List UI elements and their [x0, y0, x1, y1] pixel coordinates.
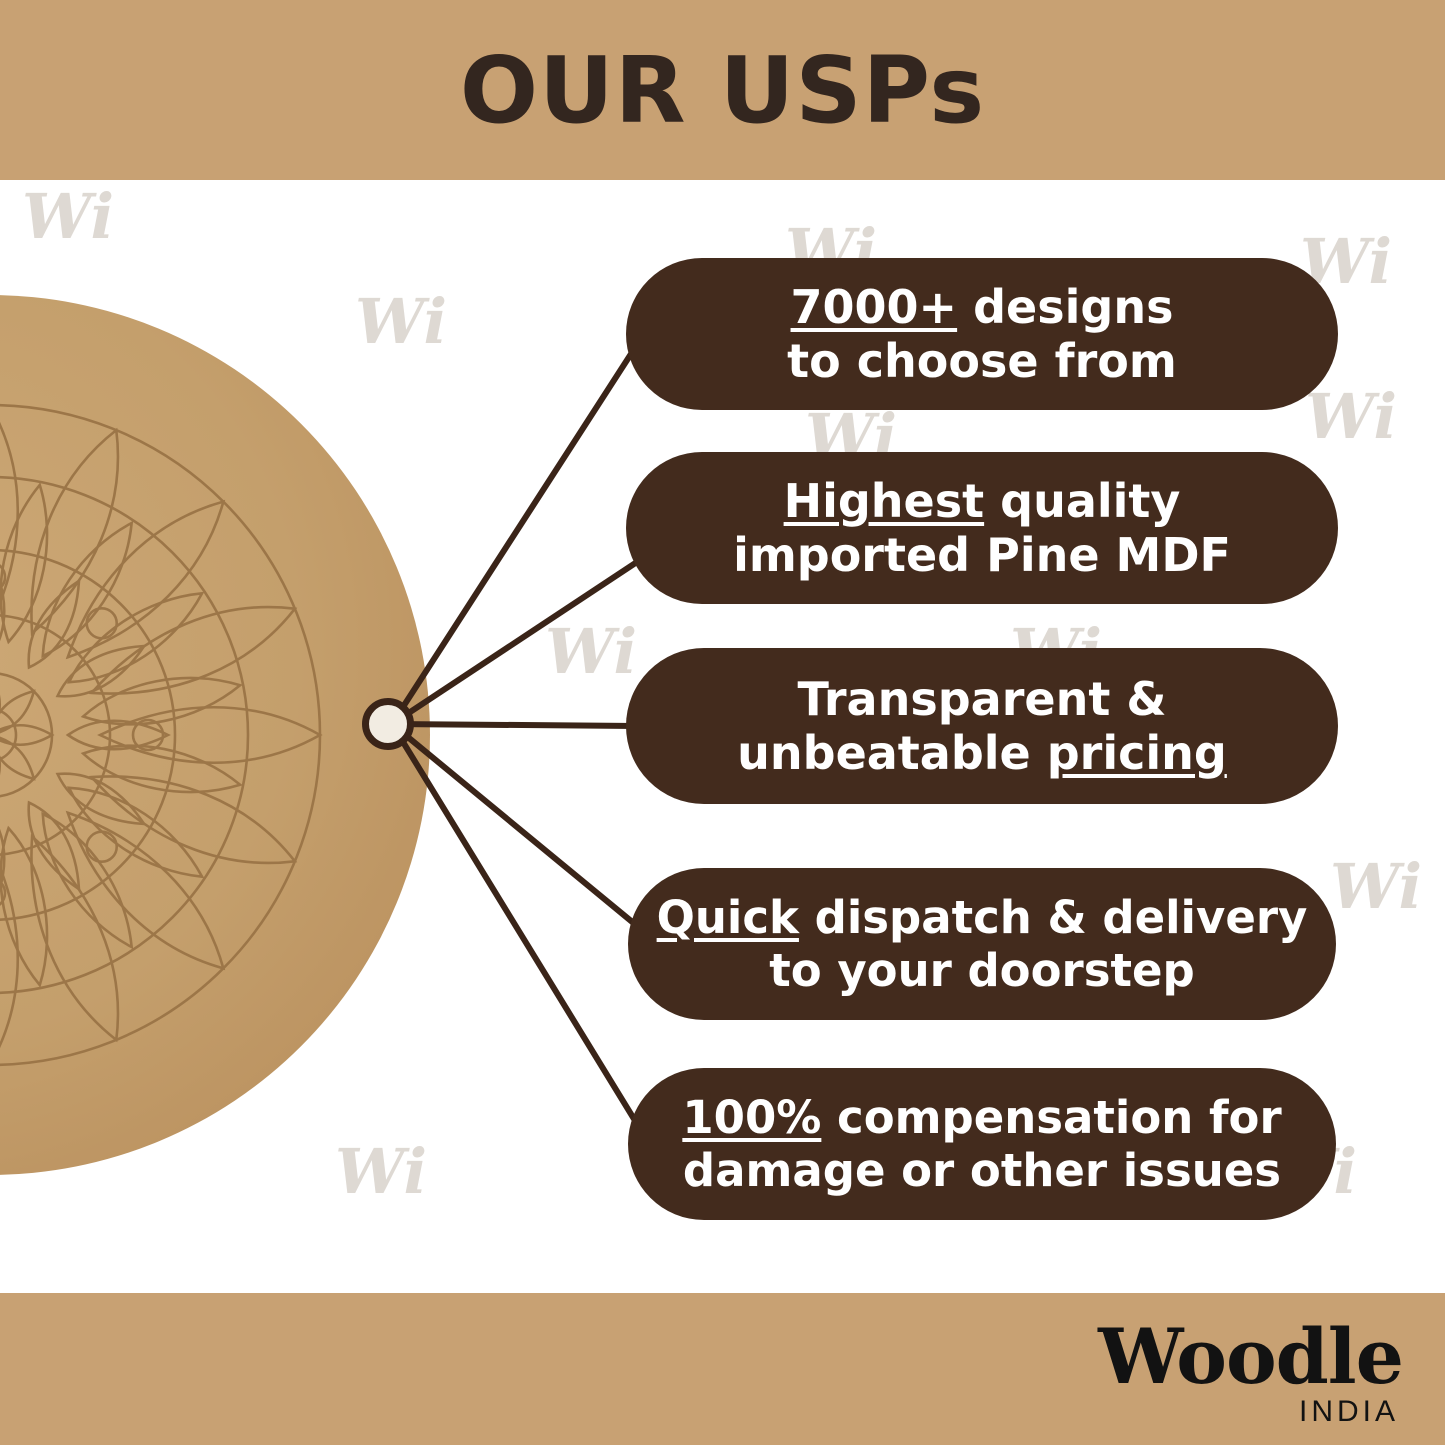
usp-line-2: to choose from — [787, 334, 1177, 388]
usp-line-1: 7000+ designs — [791, 280, 1174, 334]
usp-card-designs[interactable]: 7000+ designs to choose from — [626, 258, 1338, 410]
brand-subtitle: INDIA — [1098, 1397, 1399, 1427]
page-title: OUR USPs — [0, 0, 1445, 180]
brand-name: Woodle — [1098, 1319, 1403, 1395]
usp-line-1: Quick dispatch & delivery — [657, 891, 1308, 944]
usp-line-2: unbeatable pricing — [737, 726, 1227, 780]
usp-line-2: to your doorstep — [769, 944, 1195, 997]
usp-line-1: 100% compensation for — [682, 1091, 1281, 1144]
usp-line-1: Transparent & — [798, 672, 1167, 726]
usp-card-dispatch[interactable]: Quick dispatch & delivery to your doorst… — [628, 868, 1336, 1020]
watermark-text: Wi — [1330, 850, 1422, 923]
usp-card-pricing[interactable]: Transparent & unbeatable pricing — [626, 648, 1338, 804]
usp-line-1: Highest quality — [784, 474, 1181, 528]
usp-card-compensation[interactable]: 100% compensation for damage or other is… — [628, 1068, 1336, 1220]
watermark-text: Wi — [22, 180, 114, 253]
usp-line-2: damage or other issues — [683, 1144, 1281, 1197]
watermark-text: Wi — [1305, 380, 1397, 453]
brand-logo: Woodle INDIA — [1098, 1319, 1403, 1427]
usp-line-2: imported Pine MDF — [733, 528, 1231, 582]
infographic-canvas: Wi Wi Wi Wi Wi Wi Wi Wi Wi Wi Wi — [0, 0, 1445, 1445]
usp-card-quality[interactable]: Highest quality imported Pine MDF — [626, 452, 1338, 604]
watermark-text: Wi — [545, 615, 637, 688]
hub-node — [362, 698, 414, 750]
